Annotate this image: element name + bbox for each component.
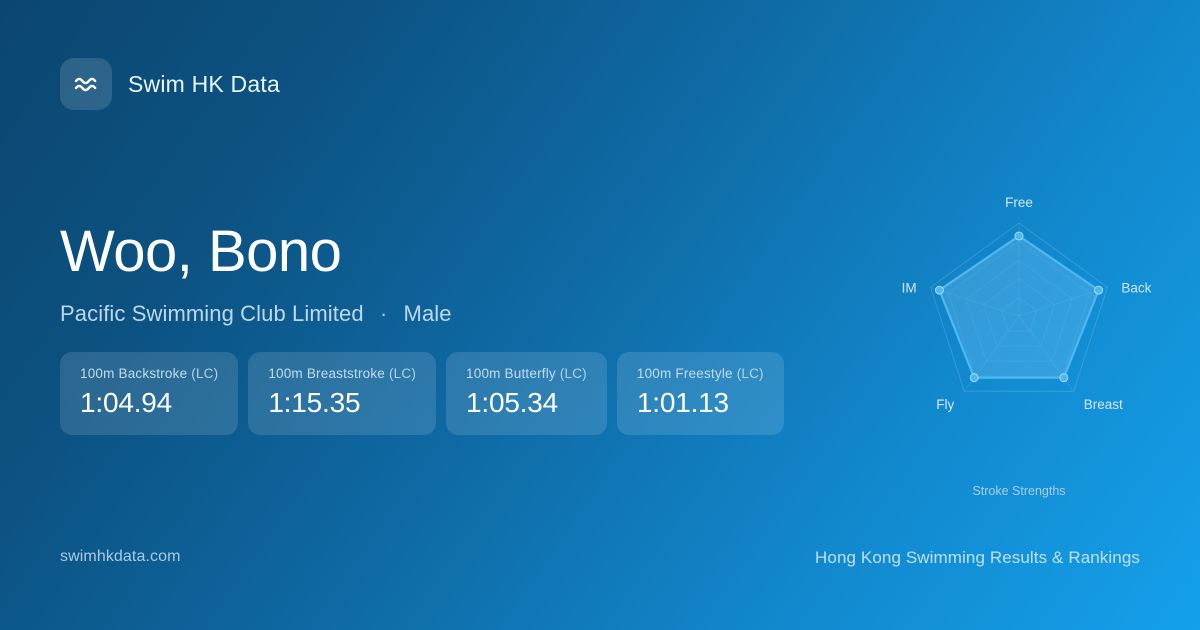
event-name: 100m Breaststroke [268,366,385,381]
course-badge: (LC) [737,366,764,381]
footer-tagline: Hong Kong Swimming Results & Rankings [815,548,1140,568]
best-time-value: 1:04.94 [80,387,218,419]
radar-axis-label-breast: Breast [1084,397,1123,412]
best-time-card[interactable]: 100m Butterfly (LC)1:05.34 [446,352,607,435]
radar-data-polygon [939,236,1098,378]
best-time-card[interactable]: 100m Freestyle (LC)1:01.13 [617,352,784,435]
best-time-event-label: 100m Breaststroke (LC) [268,366,416,381]
stroke-strengths-radar: FreeBackBreastFlyIMStroke Strengths [870,172,1170,472]
athlete-header: Woo, Bono Pacific Swimming Club Limited … [60,222,840,327]
athlete-club: Pacific Swimming Club Limited [60,301,364,326]
athlete-meta: Pacific Swimming Club Limited · Male [60,301,840,327]
best-time-card[interactable]: 100m Breaststroke (LC)1:15.35 [248,352,436,435]
event-name: 100m Butterfly [466,366,556,381]
course-badge: (LC) [560,366,587,381]
best-time-event-label: 100m Freestyle (LC) [637,366,764,381]
event-name: 100m Backstroke [80,366,187,381]
radar-data-point[interactable] [970,374,978,382]
athlete-gender: Male [404,301,452,326]
brand-logo[interactable]: Swim HK Data [60,58,280,110]
meta-separator: · [380,301,387,326]
radar-axis-label-im: IM [902,280,917,295]
best-time-value: 1:01.13 [637,387,764,419]
radar-data-point[interactable] [935,286,943,294]
best-times-list: 100m Backstroke (LC)1:04.94100m Breastst… [60,352,784,435]
event-name: 100m Freestyle [637,366,733,381]
radar-caption: Stroke Strengths [972,484,1065,498]
radar-chart-svg: FreeBackBreastFlyIMStroke Strengths [870,172,1170,472]
course-badge: (LC) [389,366,416,381]
radar-axis-label-fly: Fly [936,397,954,412]
radar-axis-label-back: Back [1121,280,1151,295]
wave-icon [60,58,112,110]
best-time-value: 1:15.35 [268,387,416,419]
radar-data-point[interactable] [1015,232,1023,240]
page-title: Woo, Bono [60,222,840,283]
radar-data-point[interactable] [1060,374,1068,382]
radar-axis-label-free: Free [1005,195,1033,210]
best-time-value: 1:05.34 [466,387,587,419]
radar-data-point[interactable] [1095,286,1103,294]
best-time-event-label: 100m Butterfly (LC) [466,366,587,381]
best-time-event-label: 100m Backstroke (LC) [80,366,218,381]
footer-site-url[interactable]: swimhkdata.com [60,548,181,566]
course-badge: (LC) [191,366,218,381]
best-time-card[interactable]: 100m Backstroke (LC)1:04.94 [60,352,238,435]
brand-name: Swim HK Data [128,71,280,98]
